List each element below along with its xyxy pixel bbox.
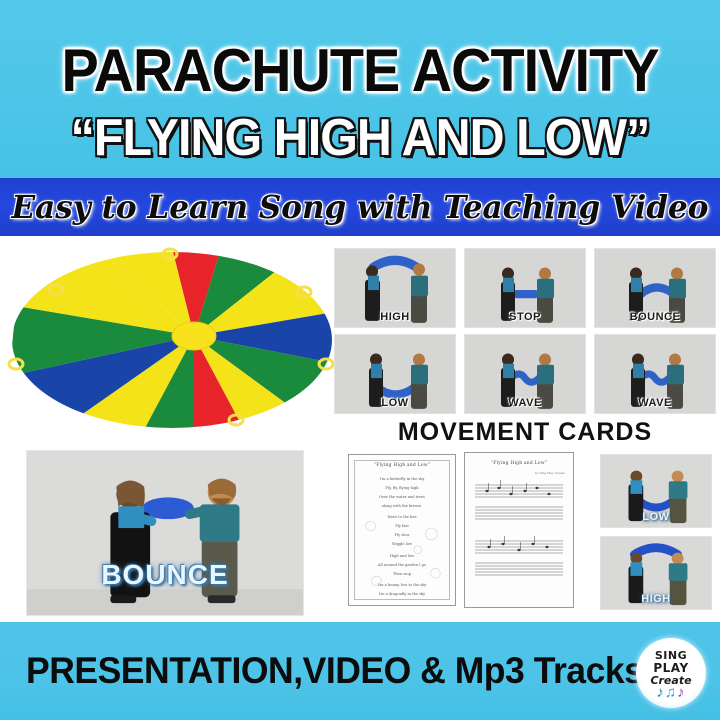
footer-text: PRESENTATION,VIDEO & Mp3 Tracks [26,634,602,708]
movement-card-label: LOW [335,397,455,409]
content-area: HIGH STOP [0,236,720,622]
movement-card-label: BOUNCE [595,311,715,323]
tagline-band: Easy to Learn Song with Teaching Video [0,178,720,236]
movement-card-label: HIGH [335,311,455,323]
movement-card-photo[interactable]: HIGH [334,248,456,328]
page-subtitle: “FLYING HIGH AND LOW” [25,110,695,166]
header-banner: PARACHUTE ACTIVITY “FLYING HIGH AND LOW” [0,0,720,178]
movement-cards-grid: HIGH STOP [334,248,716,414]
movement-card-photo[interactable]: WAVE [464,334,586,414]
movement-card-label: WAVE [465,397,585,409]
tagline-text: Easy to Learn Song with Teaching Video [11,178,709,236]
footer-banner: PRESENTATION,VIDEO & Mp3 Tracks SING PLA… [0,622,720,720]
score-sheet-thumbnail[interactable]: “Flying High and Low” by Sing Play Creat… [464,452,574,608]
movement-card-label: WAVE [595,397,715,409]
brand-logo[interactable]: SING PLAY Create ♪♫♪ [636,638,706,708]
flower-decoration-icon [349,455,455,605]
music-staff-icon [471,479,567,599]
page-title: PARACHUTE ACTIVITY [25,40,695,102]
right-column-photo-label: LOW [601,511,711,523]
movement-card-photo[interactable]: LOW [334,334,456,414]
movement-cards-heading: MOVEMENT CARDS [334,418,716,447]
score-sheet-title: “Flying High and Low” [465,461,573,466]
score-sheet-byline: by Sing Play Create [535,471,565,475]
music-notes-icon: ♪♫♪ [636,685,706,700]
movement-card-label: STOP [465,311,585,323]
parachute-icon [4,244,334,444]
movement-card-photo[interactable]: BOUNCE [594,248,716,328]
feature-photo[interactable]: BOUNCE [26,450,304,616]
right-column-photo[interactable]: HIGH [600,536,712,610]
parachute-image [4,244,334,444]
feature-photo-label: BOUNCE [27,559,303,591]
product-cover: PARACHUTE ACTIVITY “FLYING HIGH AND LOW”… [0,0,720,720]
movement-card-photo[interactable]: STOP [464,248,586,328]
right-column-photo-label: HIGH [601,593,711,605]
logo-line-play: PLAY [636,661,706,675]
lyrics-sheet-thumbnail[interactable]: “Flying High and Low” I'm a butterfly in… [348,454,456,606]
right-column-photo[interactable]: LOW [600,454,712,528]
movement-card-photo[interactable]: WAVE [594,334,716,414]
